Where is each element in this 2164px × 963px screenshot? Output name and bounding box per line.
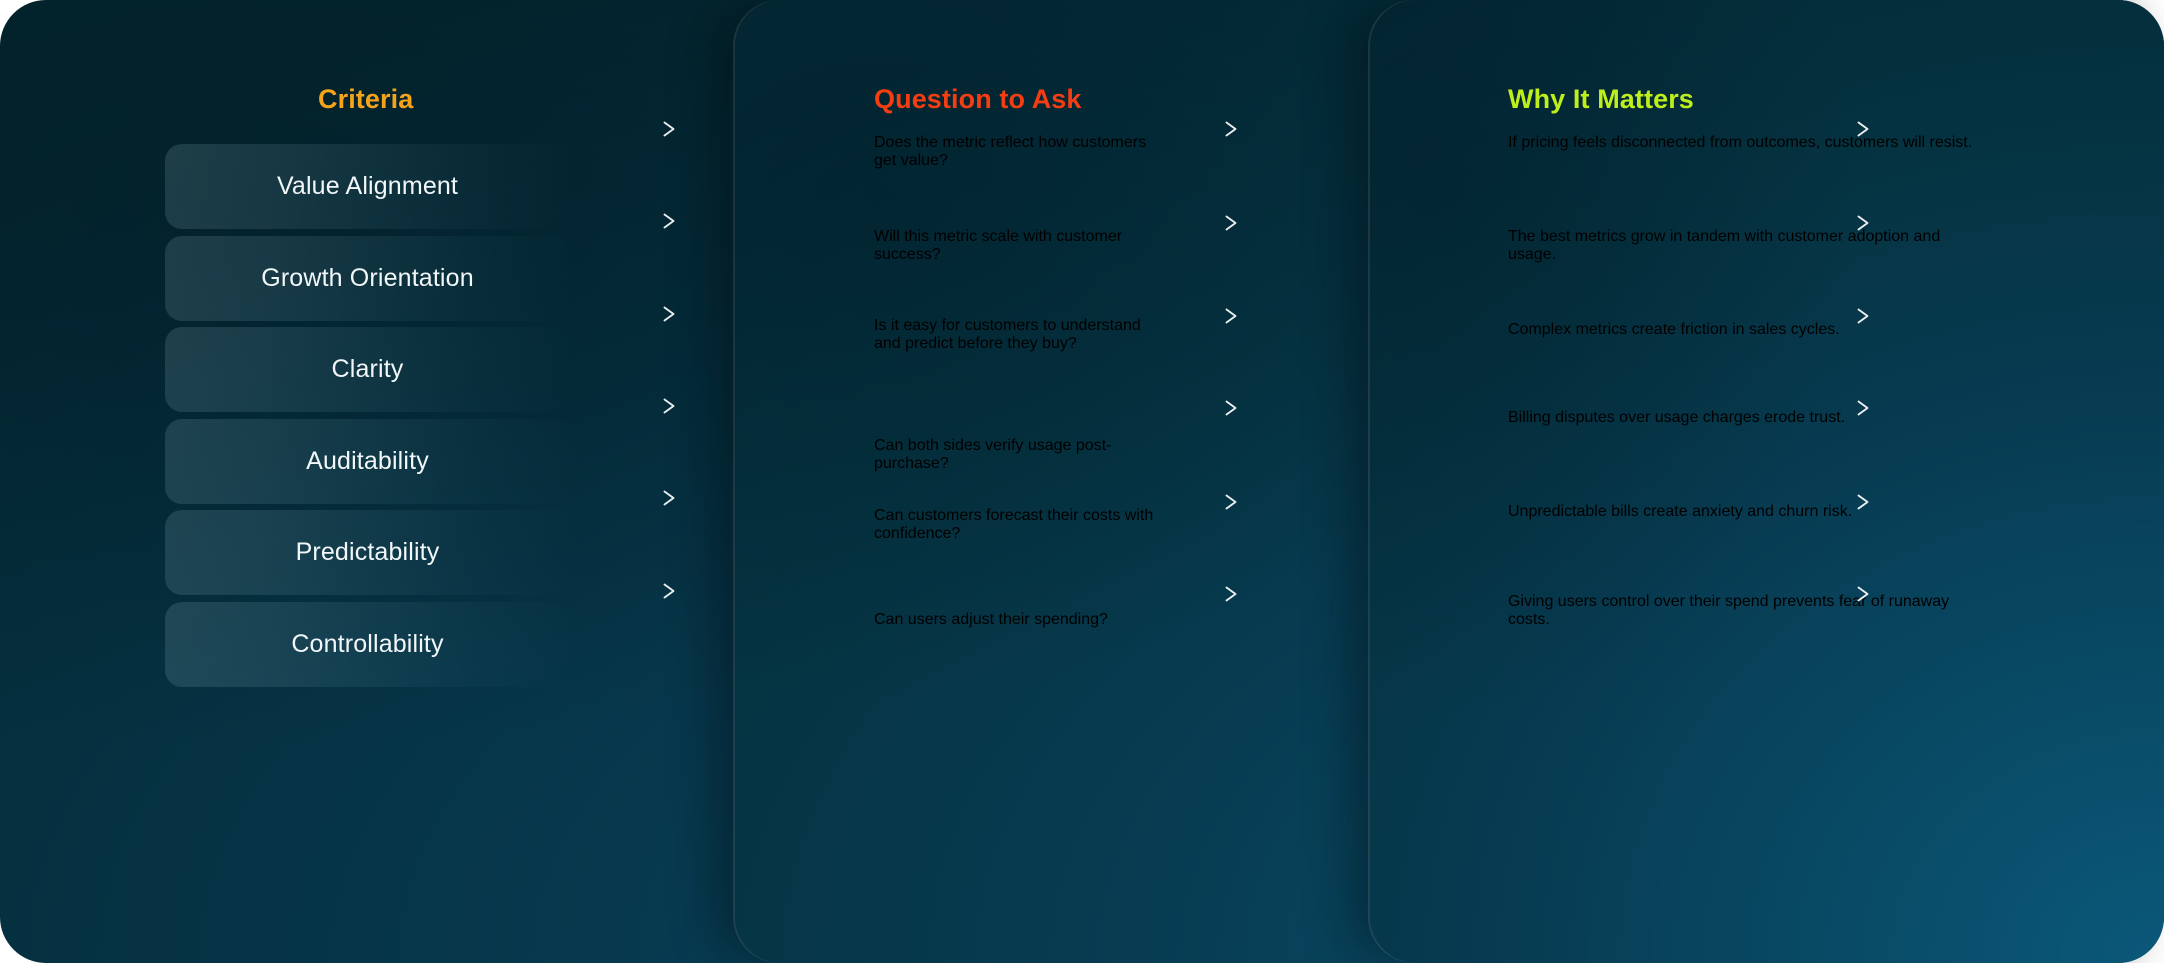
criteria-list: Value Alignment Growth Orientation Clari… (165, 144, 585, 693)
question-text: Can users adjust their spending? (874, 611, 1164, 629)
arrow-right-icon (1178, 118, 1238, 140)
question-row: Does the metric reflect how customers ge… (874, 118, 1164, 186)
column-header-criteria: Criteria (318, 86, 413, 113)
arrow-right-icon (616, 210, 676, 232)
criteria-pill-predictability[interactable]: Predictability (165, 510, 570, 595)
question-row: Can customers forecast their costs with … (874, 491, 1164, 559)
question-row: Can both sides verify usage post-purchas… (874, 421, 1164, 489)
arrow-right-icon (616, 303, 676, 325)
criteria-pill-auditability[interactable]: Auditability (165, 419, 570, 504)
arrow-right-icon (616, 580, 676, 602)
question-text: Can both sides verify usage post-purchas… (874, 437, 1164, 473)
criteria-row: Controllability (165, 602, 585, 687)
criteria-pill-clarity[interactable]: Clarity (165, 327, 570, 412)
question-row: Is it easy for customers to understand a… (874, 301, 1164, 369)
question-text: Is it easy for customers to understand a… (874, 317, 1164, 353)
why-row: The best metrics grow in tandem with cus… (1508, 212, 1988, 280)
criteria-pill-controllability[interactable]: Controllability (165, 602, 570, 687)
why-text: Complex metrics create friction in sales… (1508, 321, 1988, 339)
criteria-pill-value-alignment[interactable]: Value Alignment (165, 144, 570, 229)
arrow-right-icon (616, 487, 676, 509)
why-text: If pricing feels disconnected from outco… (1508, 134, 1988, 152)
why-row: Complex metrics create friction in sales… (1508, 305, 1988, 355)
comparison-table-stage: Criteria Question to Ask Why It Matters … (0, 0, 2164, 963)
criteria-pill-label: Predictability (296, 538, 440, 567)
arrow-right-icon (616, 118, 676, 140)
criteria-pill-label: Auditability (306, 447, 429, 476)
criteria-row: Auditability (165, 419, 585, 504)
criteria-pill-label: Growth Orientation (261, 264, 474, 293)
why-text: Giving users control over their spend pr… (1508, 593, 1988, 629)
question-text: Will this metric scale with customer suc… (874, 228, 1164, 264)
column-header-why: Why It Matters (1508, 86, 1694, 113)
criteria-row: Growth Orientation (165, 236, 585, 321)
why-row: Giving users control over their spend pr… (1508, 577, 1988, 645)
question-row: Will this metric scale with customer suc… (874, 212, 1164, 280)
criteria-pill-label: Clarity (332, 355, 404, 384)
why-text: Unpredictable bills create anxiety and c… (1508, 503, 1988, 521)
criteria-row: Clarity (165, 327, 585, 412)
criteria-pill-label: Value Alignment (277, 172, 458, 201)
arrow-right-icon (1178, 397, 1238, 419)
criteria-row: Predictability (165, 510, 585, 595)
arrow-right-icon (1178, 212, 1238, 234)
arrow-right-icon (616, 395, 676, 417)
why-row: Billing disputes over usage charges erod… (1508, 393, 1988, 443)
question-row: Can users adjust their spending? (874, 595, 1164, 645)
why-text: Billing disputes over usage charges erod… (1508, 409, 1988, 427)
arrow-right-icon (1178, 305, 1238, 327)
why-text: The best metrics grow in tandem with cus… (1508, 228, 1988, 264)
arrow-right-icon (1178, 491, 1238, 513)
why-row: Unpredictable bills create anxiety and c… (1508, 487, 1988, 537)
arrow-right-icon (1178, 583, 1238, 605)
criteria-pill-label: Controllability (291, 630, 443, 659)
column-header-question: Question to Ask (874, 86, 1082, 113)
criteria-row: Value Alignment (165, 144, 585, 229)
question-text: Does the metric reflect how customers ge… (874, 134, 1164, 170)
why-row: If pricing feels disconnected from outco… (1508, 118, 1988, 168)
question-text: Can customers forecast their costs with … (874, 507, 1164, 543)
criteria-pill-growth-orientation[interactable]: Growth Orientation (165, 236, 570, 321)
